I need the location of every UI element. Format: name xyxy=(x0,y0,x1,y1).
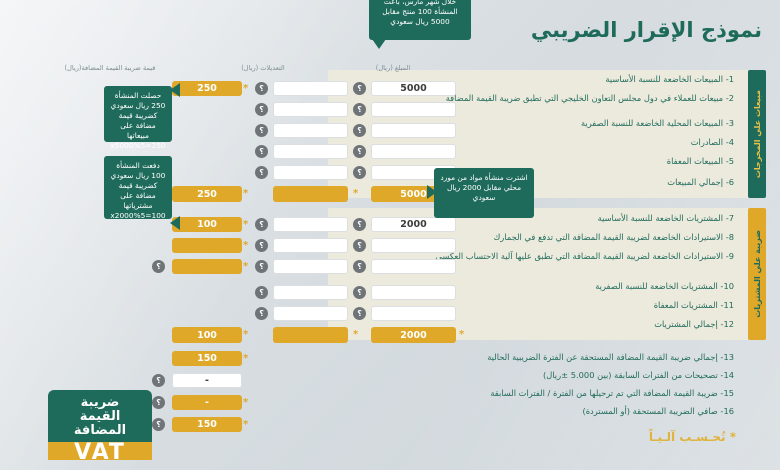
asterisk-marker: * xyxy=(459,330,464,340)
vat-input-14[interactable]: - xyxy=(172,373,242,388)
amount-input-4[interactable] xyxy=(371,144,456,159)
amount-input-2[interactable] xyxy=(371,102,456,117)
riyal-coin-icon: ؟ xyxy=(152,396,165,409)
purchases-section-tab: ضريبة علي المشتريات xyxy=(748,208,766,340)
callout-purchase-scenario: اشترت منشأة مواد من مورد محلي مقابل 2000… xyxy=(434,168,534,218)
asterisk-marker: * xyxy=(353,189,358,199)
riyal-coin-icon: ؟ xyxy=(255,124,268,137)
adjust-input-11[interactable] xyxy=(273,306,348,321)
asterisk-marker: * xyxy=(243,420,248,430)
riyal-coin-icon: ؟ xyxy=(255,239,268,252)
vat-value-15: - xyxy=(172,395,242,410)
adjust-input-1[interactable] xyxy=(273,81,348,96)
riyal-coin-icon: ؟ xyxy=(255,166,268,179)
callout-tail-left xyxy=(170,216,180,230)
riyal-coin-icon: ؟ xyxy=(353,82,366,95)
list-item-15: 15- ضريبة القيمة المضافة التي تم ترحيلها… xyxy=(342,388,734,399)
riyal-coin-icon: ؟ xyxy=(255,286,268,299)
riyal-coin-icon: ؟ xyxy=(353,307,366,320)
riyal-coin-icon: ؟ xyxy=(353,166,366,179)
amount-input-1[interactable]: 5000 xyxy=(371,81,456,96)
adjust-input-2[interactable] xyxy=(273,102,348,117)
callout-purchase-vat: دفعت المنشأة 100 ريال سعودي كضريبة قيمة … xyxy=(104,156,172,219)
auto-calculated-note: * تُحـسـب آلـيـاً xyxy=(649,430,736,444)
list-item-16: 16- صافي الضريبة المستحقة (أو المستردة) xyxy=(342,406,734,417)
vat-logo: ضريبة القيمة المضافة VAT xyxy=(48,390,152,460)
vat-value-8 xyxy=(172,238,242,253)
amount-input-11[interactable] xyxy=(371,306,456,321)
riyal-coin-icon: ؟ xyxy=(353,145,366,158)
adjust-input-7[interactable] xyxy=(273,217,348,232)
vat-value-9 xyxy=(172,259,242,274)
adjust-input-9[interactable] xyxy=(273,259,348,274)
vat-value-16: 150 xyxy=(172,417,242,432)
asterisk-marker: * xyxy=(243,330,248,340)
amount-input-8[interactable] xyxy=(371,238,456,253)
riyal-coin-icon: ؟ xyxy=(353,286,366,299)
amount-input-10[interactable] xyxy=(371,285,456,300)
adjust-input-8[interactable] xyxy=(273,238,348,253)
amount-input-7[interactable]: 2000 xyxy=(371,217,456,232)
riyal-coin-icon: ؟ xyxy=(353,260,366,273)
adjust-input-10[interactable] xyxy=(273,285,348,300)
asterisk-marker: * xyxy=(243,189,248,199)
adjust-input-4[interactable] xyxy=(273,144,348,159)
vat-total-12: 100 xyxy=(172,327,242,343)
column-header-adjustments: التعديلات (ريال) xyxy=(198,64,328,72)
adjust-total-12 xyxy=(273,327,348,343)
asterisk-marker: * xyxy=(243,262,248,272)
riyal-coin-icon: ؟ xyxy=(353,239,366,252)
callout-tail-right xyxy=(427,185,437,199)
asterisk-marker: * xyxy=(243,354,248,364)
riyal-coin-icon: ؟ xyxy=(152,260,165,273)
riyal-coin-icon: ؟ xyxy=(255,218,268,231)
riyal-coin-icon: ؟ xyxy=(255,260,268,273)
riyal-coin-icon: ؟ xyxy=(353,218,366,231)
vat-value-7: 100 xyxy=(172,217,242,232)
sales-section-tab-label: مبيعات علي المخرجات xyxy=(753,90,762,178)
callout-tail-down xyxy=(372,39,386,49)
adjust-input-5[interactable] xyxy=(273,165,348,180)
asterisk-marker: * xyxy=(243,398,248,408)
riyal-coin-icon: ؟ xyxy=(255,307,268,320)
riyal-coin-icon: ؟ xyxy=(353,103,366,116)
riyal-coin-icon: ؟ xyxy=(255,145,268,158)
purchases-section-tab-label: ضريبة علي المشتريات xyxy=(753,230,762,318)
riyal-coin-icon: ؟ xyxy=(152,418,165,431)
riyal-coin-icon: ؟ xyxy=(353,124,366,137)
asterisk-marker: * xyxy=(353,330,358,340)
adjust-total-6 xyxy=(273,186,348,202)
column-header-vat-value: قيمة ضريبة القيمة المضافة(ريال) xyxy=(30,64,190,72)
vat-value-1: 250 xyxy=(172,81,242,96)
vat-logo-line3: المضافة xyxy=(56,424,144,438)
asterisk-marker: * xyxy=(243,84,248,94)
callout-sales-scenario: خلال شهر مارس، باعت المنشأة 100 منتج مقا… xyxy=(369,0,471,40)
callout-tail-left xyxy=(170,83,180,97)
amount-total-12: 2000 xyxy=(371,327,456,343)
riyal-coin-icon: ؟ xyxy=(152,374,165,387)
asterisk-marker: * xyxy=(243,220,248,230)
vat-logo-line2: القيمة xyxy=(56,410,144,424)
callout-sales-vat: حصلت المنشأة 250 ريال سعودي كضريبة قيمة … xyxy=(104,86,172,142)
vat-logo-arabic: ضريبة القيمة المضافة xyxy=(48,390,152,442)
list-item-13: 13- إجمالي ضريبة القيمة المضافة المستحقة… xyxy=(342,352,734,363)
infographic-canvas: نموذج الإقرار الضريبي مبيعات علي المخرجا… xyxy=(0,0,780,470)
riyal-coin-icon: ؟ xyxy=(255,82,268,95)
page-title: نموذج الإقرار الضريبي xyxy=(531,18,762,42)
column-header-amount: المبلغ (ريال) xyxy=(328,64,458,72)
vat-logo-latin: VAT xyxy=(48,442,152,460)
vat-logo-line1: ضريبة xyxy=(56,396,144,410)
sales-section-tab: مبيعات علي المخرجات xyxy=(748,70,766,198)
vat-value-13: 150 xyxy=(172,351,242,366)
amount-input-3[interactable] xyxy=(371,123,456,138)
list-item-14: 14- تصحيحات من الفترات السابقة (بين 5.00… xyxy=(342,370,734,381)
adjust-input-3[interactable] xyxy=(273,123,348,138)
vat-total-6: 250 xyxy=(172,186,242,202)
amount-input-9[interactable] xyxy=(371,259,456,274)
asterisk-marker: * xyxy=(243,241,248,251)
riyal-coin-icon: ؟ xyxy=(255,103,268,116)
